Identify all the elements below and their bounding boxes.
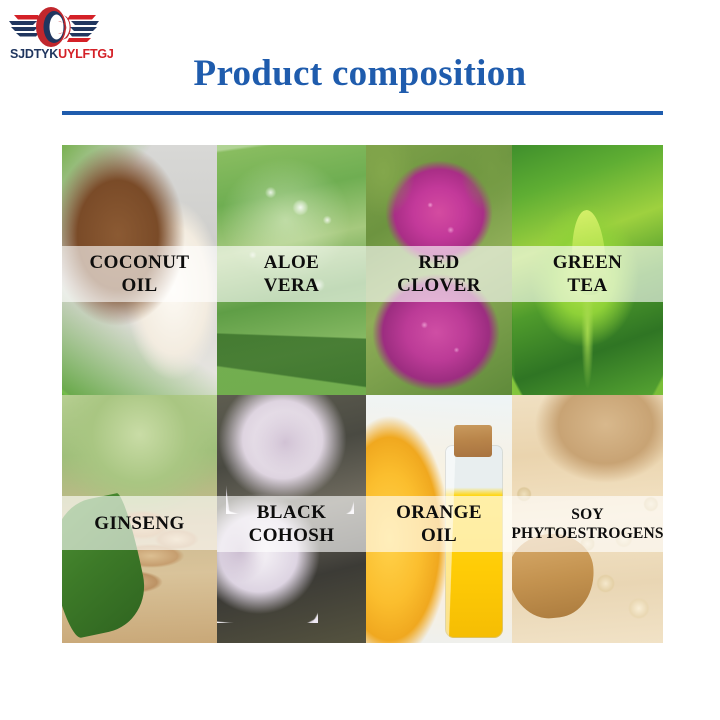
composition-grid: COCONUT OIL ALOE VERA RED CLOVER GREEN T… bbox=[62, 145, 663, 643]
ingredient-label: GREEN TEA bbox=[549, 249, 627, 299]
ingredient-tile-soy-phytoestrogens[interactable]: SOY PHYTOESTROGENS bbox=[512, 395, 663, 643]
ingredient-label-band: BLACK COHOSH bbox=[217, 496, 366, 552]
ingredient-tile-aloe-vera[interactable]: ALOE VERA bbox=[217, 145, 366, 395]
ingredient-tile-black-cohosh[interactable]: BLACK COHOSH bbox=[217, 395, 366, 643]
header-divider bbox=[62, 111, 663, 115]
ingredient-label-band: RED CLOVER bbox=[366, 246, 512, 302]
ingredient-label: RED CLOVER bbox=[393, 249, 485, 299]
ingredient-label: SOY PHYTOESTROGENS bbox=[512, 503, 663, 545]
winged-wheel-emblem-icon bbox=[8, 6, 100, 48]
ingredient-label: COCONUT OIL bbox=[86, 249, 194, 299]
ingredient-label-band: COCONUT OIL bbox=[62, 246, 217, 302]
ingredient-label-band: GINSENG bbox=[62, 496, 217, 550]
ingredient-label-band: GREEN TEA bbox=[512, 246, 663, 302]
ingredient-label: BLACK COHOSH bbox=[245, 499, 339, 549]
ingredient-tile-ginseng[interactable]: GINSENG bbox=[62, 395, 217, 643]
ingredient-label: GINSENG bbox=[90, 510, 188, 537]
ingredient-tile-red-clover[interactable]: RED CLOVER bbox=[366, 145, 512, 395]
ingredient-tile-coconut-oil[interactable]: COCONUT OIL bbox=[62, 145, 217, 395]
ingredient-label: ORANGE OIL bbox=[392, 499, 486, 549]
ingredient-label-band: SOY PHYTOESTROGENS bbox=[512, 496, 663, 552]
ingredient-label-band: ALOE VERA bbox=[217, 246, 366, 302]
page-title: Product composition bbox=[0, 52, 720, 96]
ingredient-tile-orange-oil[interactable]: ORANGE OIL bbox=[366, 395, 512, 643]
ingredient-tile-green-tea[interactable]: GREEN TEA bbox=[512, 145, 663, 395]
ingredient-label: ALOE VERA bbox=[260, 249, 323, 299]
ingredient-label-band: ORANGE OIL bbox=[366, 496, 512, 552]
